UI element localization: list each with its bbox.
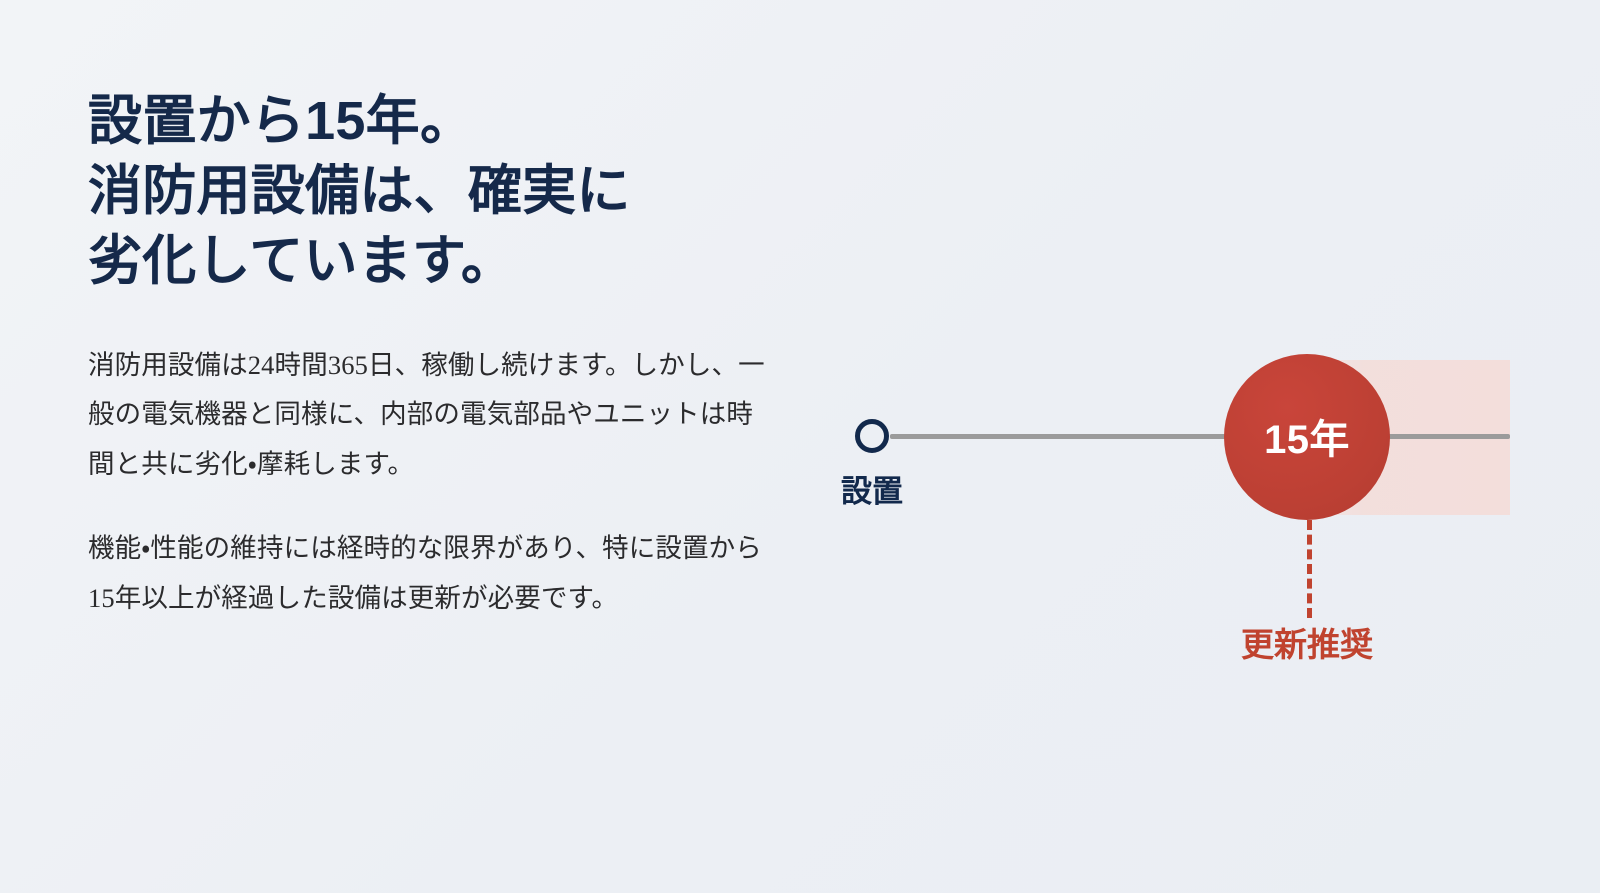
timeline-diagram: 設置 15年 更新推奨: [820, 330, 1580, 690]
timeline-start-label: 設置: [841, 476, 903, 507]
timeline-axis-line: [890, 434, 1510, 439]
timeline-callout-label: 更新推奨: [1241, 628, 1373, 661]
dashed-line-icon: [1307, 520, 1312, 618]
body-copy-block: 消防用設備は24時間365日、稼働し続けます。しかし、一般の電気機器と同様に、内…: [88, 341, 778, 624]
body-paragraph-1: 消防用設備は24時間365日、稼働し続けます。しかし、一般の電気機器と同様に、内…: [88, 341, 778, 490]
page-title: 設置から15年。 消防用設備は、確実に 劣化しています。: [88, 86, 788, 297]
milestone-marker: 15年: [1224, 354, 1390, 520]
slide-root: 設置から15年。 消防用設備は、確実に 劣化しています。 消防用設備は24時間3…: [0, 0, 1600, 893]
body-paragraph-2: 機能・性能の維持には経時的な限界があり、特に設置から15年以上が経過した設備は更…: [88, 524, 778, 624]
circle-outline-icon: [855, 419, 889, 453]
left-content-column: 設置から15年。 消防用設備は、確実に 劣化しています。 消防用設備は24時間3…: [88, 86, 788, 624]
milestone-label: 15年: [1264, 420, 1350, 460]
